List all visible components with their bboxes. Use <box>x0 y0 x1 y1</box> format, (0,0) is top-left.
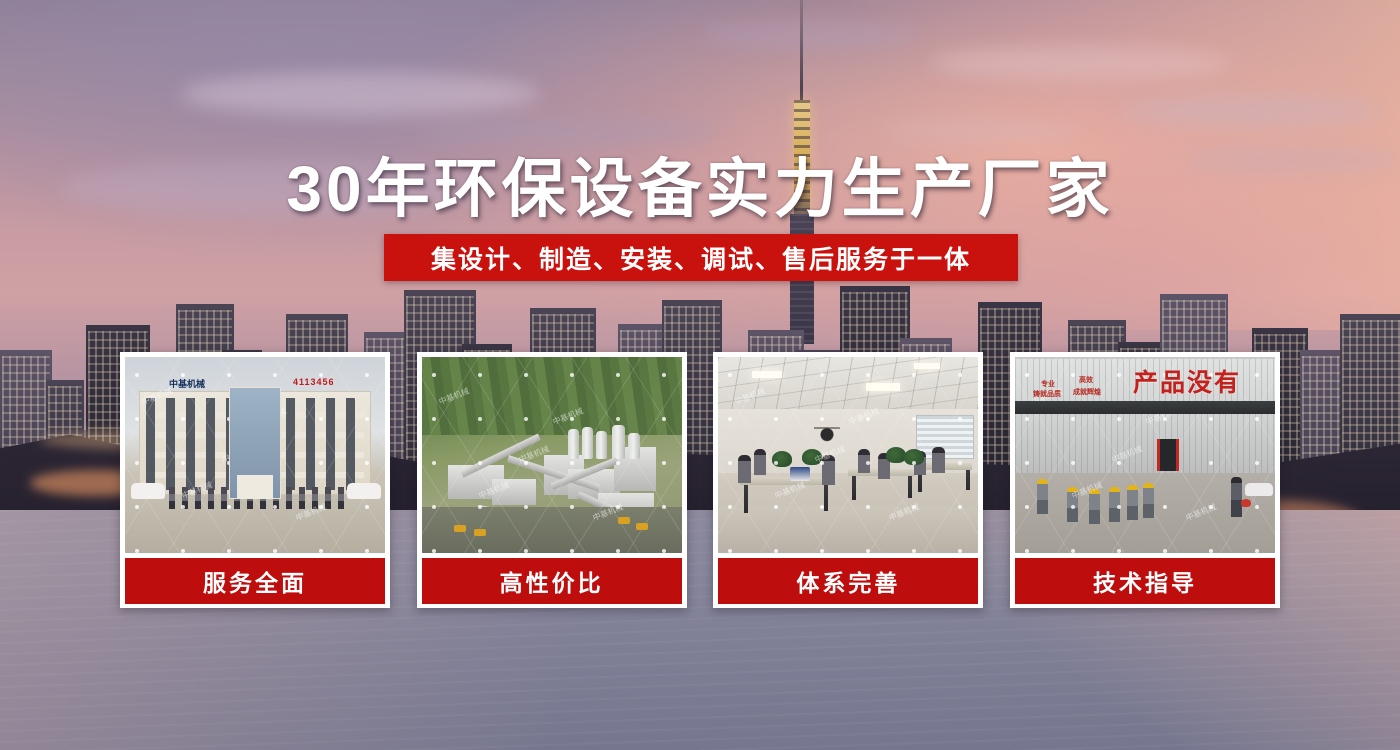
factory-slogan-text: 高效 <box>1079 375 1093 385</box>
parked-car <box>131 483 165 499</box>
watermark-node <box>570 549 574 553</box>
forecourt-ground <box>125 497 385 553</box>
watermark-node <box>365 505 369 509</box>
office-worker <box>932 447 945 473</box>
factory-door <box>1157 439 1179 471</box>
watermark-node <box>524 373 528 377</box>
worker-body <box>1089 494 1100 524</box>
watermark-node <box>662 373 666 377</box>
watermark-node <box>365 417 369 421</box>
watermark-node <box>616 549 620 553</box>
watermark-node <box>1255 417 1259 421</box>
watermark-node <box>1117 373 1121 377</box>
watermark-node <box>181 417 185 421</box>
watermark-node <box>1255 373 1259 377</box>
watermark-node <box>1025 373 1029 377</box>
watermark-node <box>1255 505 1259 509</box>
office-worker <box>738 455 751 483</box>
factory-window-band <box>1015 401 1275 414</box>
watermark-node <box>319 417 323 421</box>
feature-card[interactable]: 产品没有 专业 铸就品质 高效 成就辉煌 中基机械中基机械中基机械中基机械中基机… <box>1010 352 1280 608</box>
watermark-node <box>135 505 139 509</box>
feature-card[interactable]: 中基机械 4113456 中基机械中基机械中基机械中基机械中基机械 服务全面 <box>120 352 390 608</box>
watermark-node <box>1209 461 1213 465</box>
card-photo-office-interior: 中基机械中基机械中基机械中基机械中基机械 <box>718 357 978 553</box>
potted-plant <box>886 447 906 463</box>
yellow-machinery <box>636 523 648 530</box>
watermark-node <box>181 461 185 465</box>
ceiling-light <box>914 363 940 369</box>
watermark-node <box>135 461 139 465</box>
watermark-node <box>135 373 139 377</box>
watermark-node <box>365 461 369 465</box>
watermark-node <box>1163 505 1167 509</box>
yellow-machinery <box>618 517 630 524</box>
watermark-node <box>1071 461 1075 465</box>
card-caption-text: 体系完善 <box>796 564 900 598</box>
watermark-node <box>432 373 436 377</box>
staff-figure <box>286 487 292 509</box>
supervisor-figure <box>1231 477 1242 517</box>
factory-slogan-text: 成就辉煌 <box>1073 387 1101 397</box>
card-caption-bar: 体系完善 <box>718 558 978 604</box>
watermark-node <box>319 461 323 465</box>
watermark-node <box>432 549 436 553</box>
office-floor <box>718 507 978 553</box>
watermark-node <box>1071 549 1075 553</box>
watermark-node <box>365 549 369 553</box>
factory-slogan-text: 专业 <box>1041 379 1055 389</box>
watermark-node <box>1209 417 1213 421</box>
storage-silo <box>568 429 579 459</box>
watermark-node <box>478 461 482 465</box>
watermark-node <box>1071 373 1075 377</box>
watermark-node <box>432 461 436 465</box>
watermark-node <box>478 417 482 421</box>
desk-leg <box>908 476 912 498</box>
feature-card[interactable]: 中基机械中基机械中基机械中基机械中基机械 体系完善 <box>713 352 983 608</box>
watermark-node <box>432 417 436 421</box>
watermark-node <box>1025 417 1029 421</box>
watermark-node <box>616 417 620 421</box>
wall-logo-decal <box>814 419 840 445</box>
watermark-node <box>478 549 482 553</box>
building-phone-text: 4113456 <box>293 377 335 387</box>
worker-figure <box>1037 479 1048 514</box>
card-caption-text: 高性价比 <box>500 564 604 598</box>
desk-leg <box>852 476 856 500</box>
yellow-machinery <box>474 529 486 536</box>
watermark-node <box>570 461 574 465</box>
card-photo-plant-aerial: 中基机械中基机械中基机械中基机械中基机械 <box>422 357 682 553</box>
staff-figure <box>338 487 344 509</box>
card-caption-bar: 技术指导 <box>1015 558 1275 604</box>
card-caption-bar: 服务全面 <box>125 558 385 604</box>
parked-car <box>347 483 381 499</box>
card-caption-text: 服务全面 <box>203 564 307 598</box>
desk-leg <box>966 470 970 490</box>
watermark-node <box>227 373 231 377</box>
laptop <box>790 467 810 481</box>
watermark-node <box>616 373 620 377</box>
watermark-node <box>227 505 231 509</box>
watermark-node <box>662 461 666 465</box>
worker-figure <box>1127 485 1138 520</box>
office-worker <box>754 449 766 475</box>
watermark-node <box>662 417 666 421</box>
watermark-node <box>662 549 666 553</box>
watermark-node <box>478 505 482 509</box>
watermark-node <box>524 505 528 509</box>
watermark-node <box>570 373 574 377</box>
card-photo-factory-workers: 产品没有 专业 铸就品质 高效 成就辉煌 中基机械中基机械中基机械中基机械中基机… <box>1015 357 1275 553</box>
storage-silo <box>628 433 640 459</box>
watermark-node <box>524 417 528 421</box>
worker-body <box>1143 488 1154 518</box>
watermark-node <box>1025 461 1029 465</box>
building-entrance <box>237 475 273 499</box>
desk-leg <box>744 485 748 513</box>
building-sign-text: 中基机械 <box>169 377 205 390</box>
watermark-node <box>227 549 231 553</box>
subtitle-banner: 集设计、制造、安装、调试、售后服务于一体 <box>384 234 1018 281</box>
watermark-node <box>1163 549 1167 553</box>
watermark-node <box>135 549 139 553</box>
ceiling-light <box>866 383 900 391</box>
watermark-node <box>1255 461 1259 465</box>
subtitle-text: 集设计、制造、安装、调试、售后服务于一体 <box>431 240 971 276</box>
storage-silo <box>596 431 607 459</box>
watermark-node <box>478 373 482 377</box>
feature-card-row: 中基机械 4113456 中基机械中基机械中基机械中基机械中基机械 服务全面 中… <box>120 352 1280 608</box>
watermark-node <box>1025 549 1029 553</box>
card-caption-text: 技术指导 <box>1093 564 1197 598</box>
worker-body <box>1127 490 1138 520</box>
storage-silo <box>612 425 625 459</box>
watermark-node <box>1117 505 1121 509</box>
desk-leg <box>824 485 828 511</box>
storage-silo <box>582 427 593 459</box>
watermark-node <box>524 549 528 553</box>
watermark-node <box>1071 505 1075 509</box>
worker-figure <box>1143 483 1154 518</box>
watermark-node <box>1025 505 1029 509</box>
watermark-node <box>181 549 185 553</box>
feature-card[interactable]: 中基机械中基机械中基机械中基机械中基机械 高性价比 <box>417 352 687 608</box>
yellow-machinery <box>454 525 466 532</box>
watermark-node <box>1209 549 1213 553</box>
cloud <box>1120 96 1380 126</box>
watermark-node <box>570 505 574 509</box>
staff-figure <box>299 487 305 509</box>
watermark-node <box>273 549 277 553</box>
card-photo-headquarters: 中基机械 4113456 中基机械中基机械中基机械中基机械中基机械 <box>125 357 385 553</box>
parked-car <box>1245 483 1273 496</box>
watermark-node <box>273 505 277 509</box>
watermark-node <box>1117 417 1121 421</box>
watermark-node <box>135 417 139 421</box>
red-hardhat-icon <box>1241 499 1251 507</box>
watermark-node <box>1117 549 1121 553</box>
watermark-node <box>319 549 323 553</box>
factory-sign-text: 产品没有 <box>1133 363 1241 399</box>
supervisor-body <box>1231 483 1242 517</box>
staff-figure <box>169 487 175 509</box>
worker-body <box>1037 484 1048 514</box>
watermark-node <box>616 461 620 465</box>
tower-mast <box>800 0 803 108</box>
cloud <box>180 72 540 116</box>
cloud <box>930 46 1230 80</box>
office-desk <box>740 477 832 485</box>
page-title: 30年环保设备实力生产厂家 <box>0 138 1400 230</box>
watermark-node <box>662 505 666 509</box>
watermark-node <box>1071 417 1075 421</box>
watermark-node <box>181 505 185 509</box>
watermark-node <box>273 373 277 377</box>
watermark-node <box>432 505 436 509</box>
factory-slogan-text: 铸就品质 <box>1033 389 1061 399</box>
watermark-node <box>1255 549 1259 553</box>
card-caption-bar: 高性价比 <box>422 558 682 604</box>
watermark-node <box>365 373 369 377</box>
